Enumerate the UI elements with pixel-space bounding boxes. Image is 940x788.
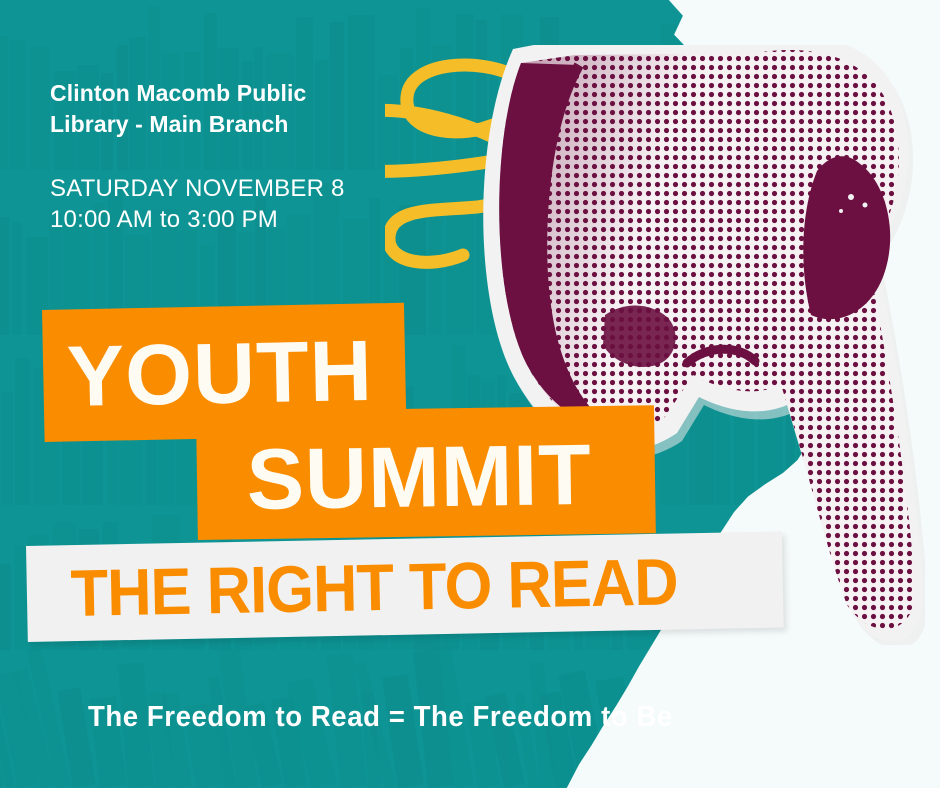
- shelf-book: [685, 659, 720, 788]
- title-text-summit: SUMMIT: [246, 432, 592, 523]
- event-time: 10:00 AM to 3:00 PM: [50, 204, 390, 235]
- shelf-book: [0, 36, 8, 170]
- shelf-book: [9, 40, 26, 170]
- shelf-book: [0, 564, 11, 650]
- title-text-youth: YOUTH: [66, 328, 374, 420]
- shelf-book: [0, 217, 9, 335]
- shelf-book: [812, 694, 857, 788]
- shelf-book: [876, 698, 912, 788]
- shelf-book: [849, 688, 881, 788]
- shelf-book: [2, 392, 13, 505]
- shelf-book: [761, 654, 809, 788]
- shelf-book: [753, 680, 778, 788]
- subtitle-text: THE RIGHT TO READ: [70, 548, 678, 626]
- shelf-book: [801, 698, 830, 788]
- tagline-text: The Freedom to Read = The Freedom to Be: [88, 703, 673, 732]
- event-date: SATURDAY NOVEMBER 8: [50, 173, 390, 204]
- datetime-text: SATURDAY NOVEMBER 8 10:00 AM to 3:00 PM: [50, 173, 390, 235]
- venue-line-1: Clinton Macomb Public: [50, 78, 380, 109]
- shelf-book: [12, 222, 22, 335]
- shelf-book: [14, 545, 27, 650]
- shelf-book: [15, 358, 30, 505]
- venue-text: Clinton Macomb Public Library - Main Bra…: [50, 78, 380, 139]
- shelf-book: [659, 683, 693, 788]
- shelf-book: [30, 47, 50, 170]
- venue-line-2: Library - Main Branch: [50, 109, 380, 140]
- poster-canvas: Clinton Macomb Public Library - Main Bra…: [0, 0, 940, 788]
- shelf-book: [728, 671, 765, 788]
- shelf-book: [693, 658, 743, 788]
